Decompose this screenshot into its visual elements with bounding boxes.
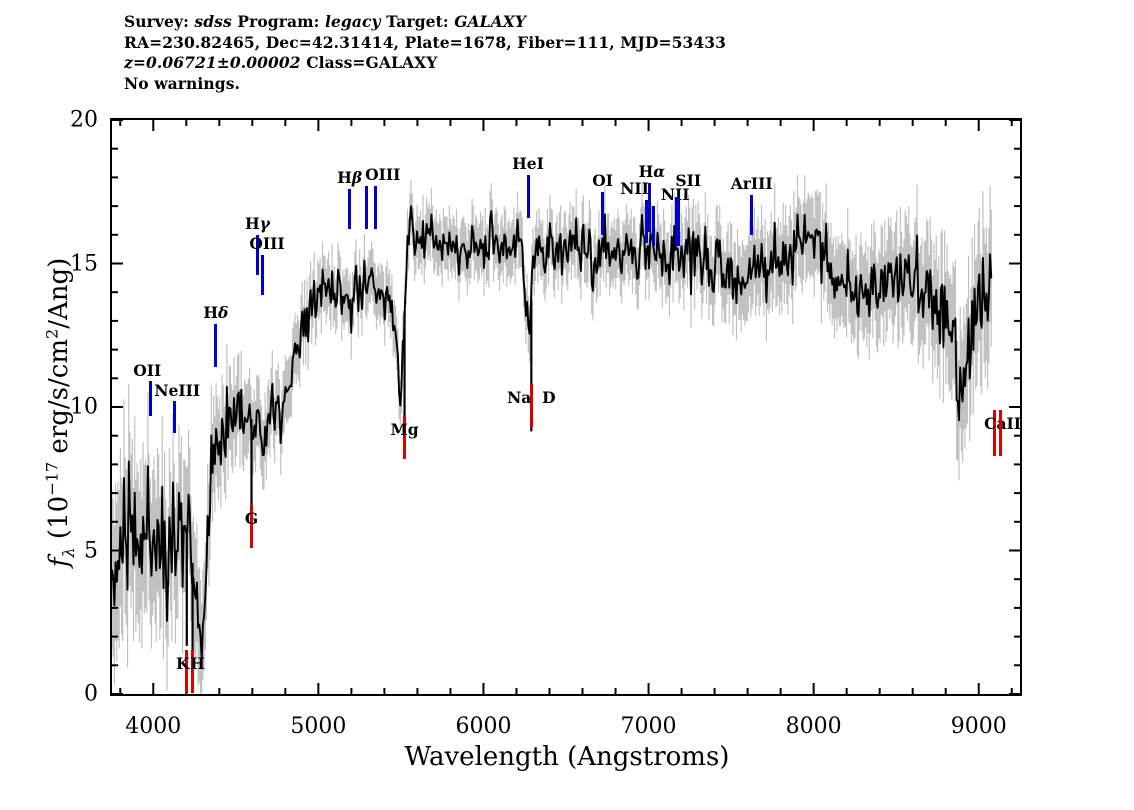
line-marker-tick — [214, 324, 217, 367]
plot-frame — [110, 118, 1022, 696]
metadata-line-coordinates: RA=230.82465, Dec=42.31414, Plate=1678, … — [124, 33, 1004, 54]
line-marker-label: OIII — [365, 165, 400, 184]
line-marker-label: H — [190, 654, 205, 673]
line-marker-tick — [348, 189, 351, 229]
metadata-line-redshift: z=0.06721±0.00002 Class=GALAXY — [124, 53, 1004, 74]
line-marker-tick — [261, 255, 264, 295]
spectrum-viewer: Survey: sdss Program: legacy Target: GAL… — [0, 0, 1134, 810]
line-marker-label: HeI — [512, 154, 544, 173]
line-marker-label: NII — [620, 179, 649, 198]
line-marker-label: OII — [133, 361, 161, 380]
line-marker-tick — [999, 410, 1002, 456]
line-marker-tick — [677, 197, 680, 246]
x-tick-label: 9000 — [919, 714, 1039, 739]
x-tick-label: 7000 — [589, 714, 709, 739]
line-marker-label: Hδ — [203, 303, 228, 322]
spectrum-metadata-header: Survey: sdss Program: legacy Target: GAL… — [124, 12, 1004, 94]
line-marker-label: G — [245, 509, 258, 528]
x-tick-label: 8000 — [754, 714, 874, 739]
metadata-line-warnings: No warnings. — [124, 74, 1004, 95]
line-marker-label: OI — [592, 171, 613, 190]
x-tick-label: 4000 — [93, 714, 213, 739]
line-marker-label: NeIII — [154, 381, 200, 400]
line-marker-tick — [374, 186, 377, 229]
line-marker-label: OIII — [249, 234, 284, 253]
line-marker-label: Hβ — [337, 168, 362, 187]
x-tick-label: 5000 — [258, 714, 378, 739]
y-axis-title: fλ (10−17 erg/s/cm2/Ang) — [43, 92, 78, 732]
line-marker-label: Hα — [639, 162, 666, 181]
line-marker-label: Hγ — [245, 214, 270, 233]
line-marker-label: Mg — [391, 420, 419, 439]
line-marker-label: ArIII — [731, 174, 773, 193]
line-marker-tick — [173, 401, 176, 433]
x-tick-label: 6000 — [423, 714, 543, 739]
line-marker-tick — [527, 175, 530, 218]
x-axis-title: Wavelength (Angstroms) — [0, 742, 1134, 772]
line-marker-tick — [149, 381, 152, 415]
line-marker-tick — [750, 195, 753, 235]
line-marker-tick — [365, 186, 368, 229]
line-marker-label: CaII — [984, 414, 1021, 433]
line-marker-label: SII — [675, 171, 701, 190]
metadata-line-survey: Survey: sdss Program: legacy Target: GAL… — [124, 12, 1004, 33]
line-marker-label: K — [176, 654, 189, 673]
line-marker-tick — [601, 192, 604, 235]
spectrum-plot-area: OIINeIIIHδKHHγOIIIGHβOIIIMgHeINa DOINIIH… — [110, 118, 1022, 696]
line-marker-tick — [652, 206, 655, 246]
line-marker-label: Na D — [507, 388, 555, 407]
